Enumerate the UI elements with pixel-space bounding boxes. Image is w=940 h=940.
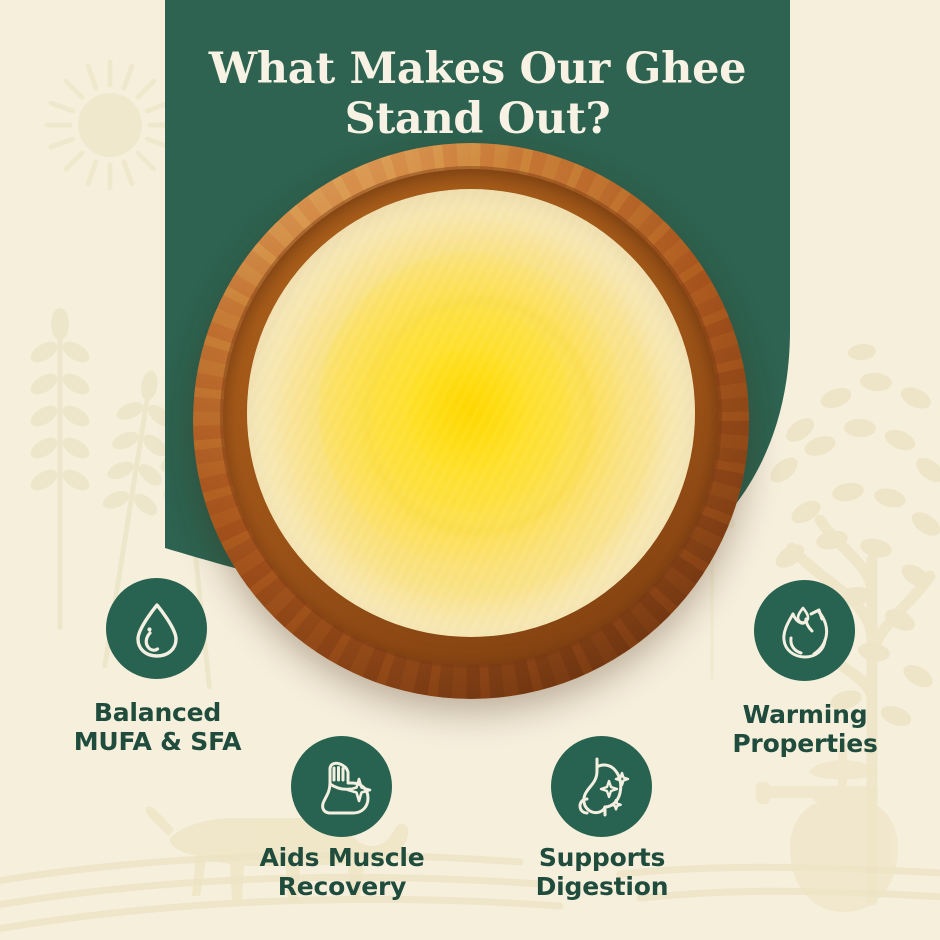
feature-label-muscle-line1: Aids Muscle xyxy=(259,843,424,872)
field-lines-motif xyxy=(0,855,940,932)
stomach-icon xyxy=(571,755,633,819)
flame-with-arrow-icon xyxy=(773,600,837,662)
feature-label-muscle-line2: Recovery xyxy=(278,872,406,901)
ghee-surface xyxy=(247,189,695,637)
feature-label-digestion-line2: Digestion xyxy=(536,872,669,901)
feature-badge-mufa[interactable] xyxy=(106,578,207,679)
flexed-bicep-icon xyxy=(310,757,374,817)
title-line-2: Stand Out? xyxy=(165,95,790,145)
feature-label-digestion-line1: Supports xyxy=(539,843,665,872)
title-line-1: What Makes Our Ghee xyxy=(209,44,746,94)
ghee-edge-cream xyxy=(247,189,695,637)
droplet-icon xyxy=(126,598,188,660)
feature-label-mufa-line2: MUFA & SFA xyxy=(74,727,242,756)
page-title: What Makes Our Ghee Stand Out? xyxy=(165,45,790,145)
feature-label-mufa: Balanced MUFA & SFA xyxy=(20,698,295,757)
feature-badge-digestion[interactable] xyxy=(551,736,652,837)
feature-label-warming-line2: Properties xyxy=(732,729,877,758)
infographic-canvas: What Makes Our Ghee Stand Out? Balanced … xyxy=(0,0,940,940)
feature-label-muscle: Aids Muscle Recovery xyxy=(222,843,462,902)
clay-pot-motif xyxy=(756,742,898,912)
feature-label-warming: Warming Properties xyxy=(680,700,930,759)
droplet-accent-icon xyxy=(798,608,808,623)
feature-label-warming-line1: Warming xyxy=(743,700,868,729)
ghee-bowl-image xyxy=(193,143,749,699)
feature-badge-warming[interactable] xyxy=(754,580,855,681)
sun-rays-motif xyxy=(47,62,173,188)
feature-badge-muscle[interactable] xyxy=(291,736,392,837)
feature-label-mufa-line1: Balanced xyxy=(94,698,221,727)
sparkle-icon xyxy=(601,773,628,809)
feature-label-digestion: Supports Digestion xyxy=(486,843,718,902)
